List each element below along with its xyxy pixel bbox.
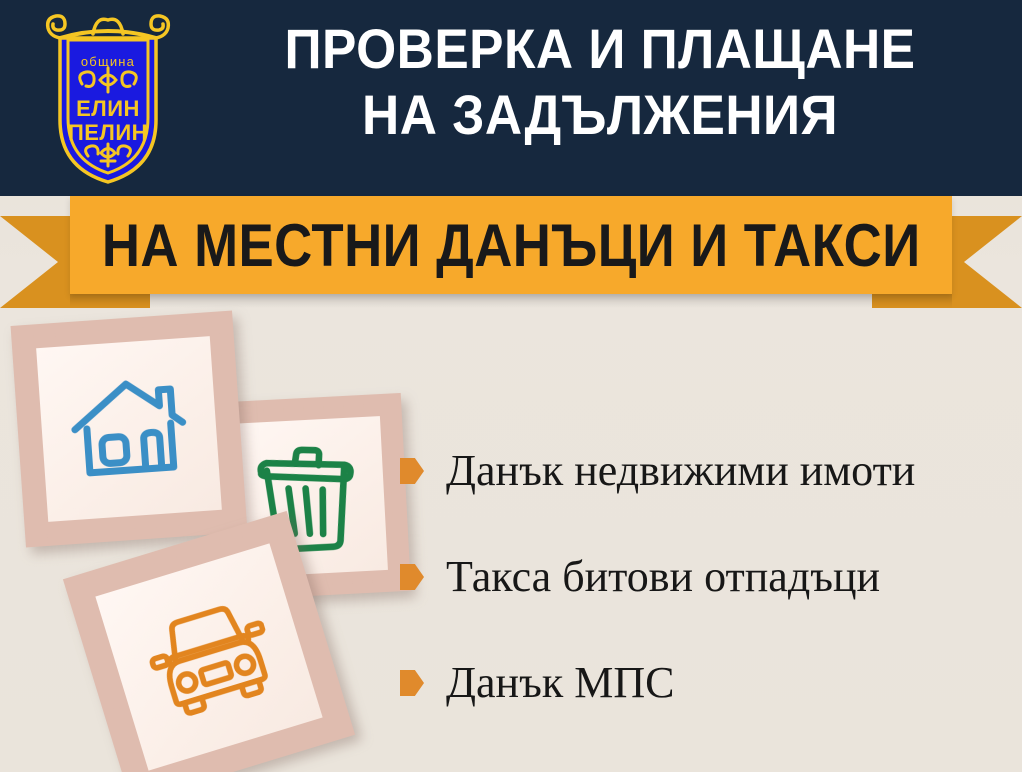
- subtitle-ribbon: НА МЕСТНИ ДАНЪЦИ И ТАКСИ: [0, 196, 1022, 308]
- list-item-label: Такса битови отпадъци: [446, 553, 880, 601]
- ribbon-shadow: [70, 294, 952, 308]
- list-item-label: Данък МПС: [446, 659, 674, 707]
- list-item-label: Данък недвижими имоти: [446, 447, 915, 495]
- municipality-crest-logo: община ЕЛИН ПЕЛИН: [38, 8, 178, 188]
- tax-type-list: Данък недвижими имоти Такса битови отпад…: [400, 418, 1010, 736]
- header-banner: община ЕЛИН ПЕЛИН: [0, 0, 1022, 196]
- crest-svg: община ЕЛИН ПЕЛИН: [38, 8, 178, 188]
- house-icon: [11, 311, 248, 548]
- bullet-arrow-icon: [400, 564, 424, 590]
- list-item[interactable]: Данък МПС: [400, 630, 1010, 736]
- title-line-2: НА ЗАДЪЛЖЕНИЯ: [223, 82, 977, 148]
- page-title: ПРОВЕРКА И ПЛАЩАНЕ НА ЗАДЪЛЖЕНИЯ: [190, 16, 1010, 148]
- list-item[interactable]: Данък недвижими имоти: [400, 418, 1010, 524]
- crest-name-line1: ЕЛИН: [76, 96, 140, 121]
- ribbon-band: НА МЕСТНИ ДАНЪЦИ И ТАКСИ: [70, 196, 952, 294]
- ribbon-text: НА МЕСТНИ ДАНЪЦИ И ТАКСИ: [102, 211, 921, 280]
- stamp-card-house: [11, 311, 248, 548]
- poster-canvas: община ЕЛИН ПЕЛИН: [0, 0, 1022, 772]
- title-line-1: ПРОВЕРКА И ПЛАЩАНЕ: [223, 16, 977, 82]
- bullet-arrow-icon: [400, 458, 424, 484]
- crest-name-line2: ПЕЛИН: [68, 120, 148, 145]
- bullet-arrow-icon: [400, 670, 424, 696]
- list-item[interactable]: Такса битови отпадъци: [400, 524, 1010, 630]
